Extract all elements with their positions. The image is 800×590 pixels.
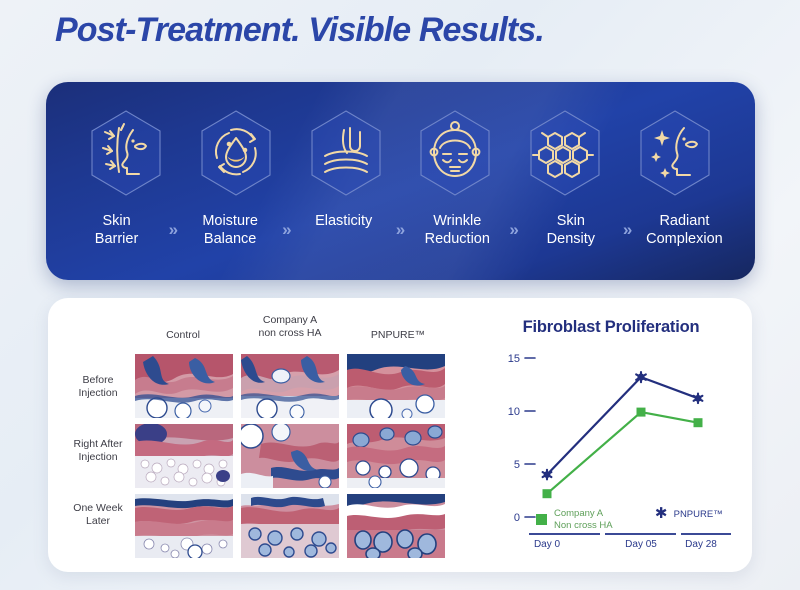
- benefit-label-elasticity: Elasticity: [297, 212, 390, 230]
- chevron-right-icon-2: »: [277, 212, 297, 239]
- skin-density-icon: [522, 106, 608, 200]
- histology-column-header-company-a: Company A non cross HA: [236, 314, 344, 340]
- wrinkle-reduction-icon: [412, 106, 498, 200]
- asterisk-icon: ✱: [655, 508, 668, 521]
- histology-row-header-before-injection: Before Injection: [66, 374, 130, 400]
- legend-label-pnpure: PNPURE™: [674, 509, 723, 521]
- histology-row-header-one-week-later: One Week Later: [66, 502, 130, 528]
- skin-barrier-icon: [83, 106, 169, 200]
- x-tick-label-day-05: Day 05: [625, 539, 657, 550]
- histology-tile: [241, 424, 339, 488]
- histology-tile: [135, 424, 233, 488]
- benefit-step-moisture-balance[interactable]: [190, 106, 282, 200]
- histology-column-header-pnpure: PNPURE™: [344, 329, 452, 342]
- histology-tile: [241, 494, 339, 558]
- legend-label-company-a: Company A Non cross HA: [554, 508, 613, 531]
- x-tick-label-day-28: Day 28: [685, 539, 717, 550]
- benefit-label-skin-barrier: Skin Barrier: [70, 212, 163, 248]
- chevron-right-icon-1: »: [163, 212, 183, 239]
- histology-tile: [135, 494, 233, 558]
- histology-row-header-right-after-injection: Right After Injection: [66, 438, 130, 464]
- series-marker-pnpure: [543, 372, 703, 479]
- histology-tile: [241, 354, 339, 418]
- x-tick-label-day-0: Day 0: [534, 539, 561, 550]
- benefit-label-row: Skin Barrier » Moisture Balance » Elasti…: [46, 200, 755, 280]
- y-tick-label-15: 15: [508, 353, 520, 365]
- histology-tile: [347, 424, 445, 488]
- benefit-step-wrinkle-reduction[interactable]: [409, 106, 501, 200]
- benefit-step-skin-density[interactable]: [519, 106, 611, 200]
- histology-tile: [347, 354, 445, 418]
- benefits-banner: Skin Barrier » Moisture Balance » Elasti…: [46, 82, 755, 280]
- page-title: Post-Treatment. Visible Results.: [55, 11, 544, 50]
- chevron-right-icon-3: »: [390, 212, 410, 239]
- histology-matrix: Control Company A non cross HA PNPURE™ B…: [66, 312, 486, 558]
- benefit-step-elasticity[interactable]: [300, 106, 392, 200]
- y-tick-label-5: 5: [514, 459, 520, 471]
- histology-image-grid: [135, 354, 445, 558]
- histology-tile: [347, 494, 445, 558]
- benefit-step-skin-barrier[interactable]: [80, 106, 172, 200]
- benefit-icon-row: [46, 82, 755, 200]
- histology-tile: [135, 354, 233, 418]
- moisture-balance-icon: [193, 106, 279, 200]
- chart-legend: Company A Non cross HA ✱ PNPURE™: [506, 508, 736, 531]
- results-card: Control Company A non cross HA PNPURE™ B…: [48, 298, 752, 572]
- radiant-complexion-icon: [632, 106, 718, 200]
- benefit-step-radiant-complexion[interactable]: [629, 106, 721, 200]
- benefit-label-skin-density: Skin Density: [524, 212, 617, 248]
- legend-item-pnpure[interactable]: ✱ PNPURE™: [655, 508, 723, 521]
- legend-item-company-a[interactable]: Company A Non cross HA: [536, 508, 613, 531]
- chart-title: Fibroblast Proliferation: [486, 318, 736, 337]
- histology-column-header-control: Control: [129, 329, 237, 342]
- benefit-label-radiant-complexion: Radiant Complexion: [638, 212, 731, 248]
- benefit-label-moisture-balance: Moisture Balance: [184, 212, 277, 248]
- y-tick-label-10: 10: [508, 406, 520, 418]
- legend-square-icon: [536, 514, 547, 525]
- benefit-label-wrinkle-reduction: Wrinkle Reduction: [411, 212, 504, 248]
- chevron-right-icon-4: »: [504, 212, 524, 239]
- fibroblast-proliferation-chart: Fibroblast Proliferation 15 10 5 0: [486, 312, 736, 560]
- elasticity-icon: [303, 106, 389, 200]
- chevron-right-icon-5: »: [617, 212, 637, 239]
